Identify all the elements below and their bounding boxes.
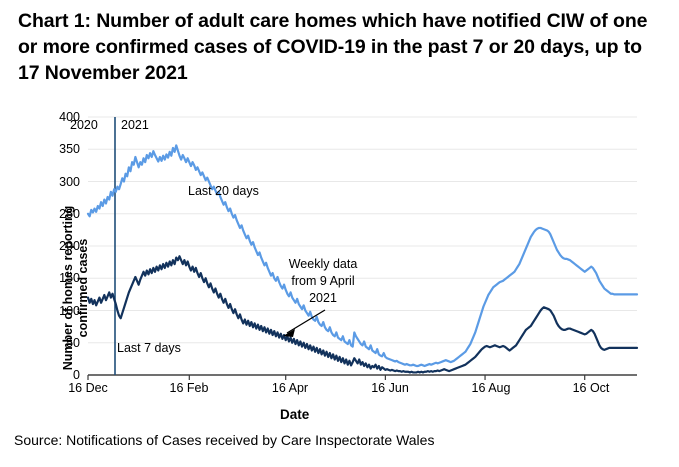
y-tick-label: 100: [40, 304, 80, 318]
y-tick-label: 150: [40, 271, 80, 285]
series-label-last-7-days: Last 7 days: [117, 341, 181, 355]
y-tick-label: 0: [40, 368, 80, 382]
annotation-year-2021: 2021: [121, 118, 149, 132]
y-tick-label: 200: [40, 239, 80, 253]
series-label-last-20-days: Last 20 days: [188, 184, 259, 198]
x-tick-label: 16 Jun: [355, 381, 425, 395]
y-tick-label: 300: [40, 175, 80, 189]
chart-figure: Number of homes reporting confirmed case…: [0, 105, 679, 425]
annotation-year-2020: 2020: [70, 118, 98, 132]
y-tick-label: 50: [40, 336, 80, 350]
x-tick-label: 16 Apr: [255, 381, 325, 395]
annotation-weekly-data-line3: 2021: [268, 291, 378, 305]
x-tick-label: 16 Dec: [53, 381, 123, 395]
x-tick-marks: [88, 375, 585, 380]
y-tick-label: 250: [40, 207, 80, 221]
annotation-weekly-data-line1: Weekly data: [268, 257, 378, 271]
x-axis-title: Date: [280, 407, 309, 422]
y-tick-label: 350: [40, 142, 80, 156]
x-tick-label: 16 Aug: [456, 381, 526, 395]
annotation-weekly-data-line2: from 9 April: [268, 274, 378, 288]
series-line-last-20-days: [88, 145, 637, 366]
source-note: Source: Notifications of Cases received …: [14, 432, 434, 448]
x-tick-label: 16 Oct: [556, 381, 626, 395]
page-title: Chart 1: Number of adult care homes whic…: [18, 8, 668, 86]
x-tick-label: 16 Feb: [154, 381, 224, 395]
